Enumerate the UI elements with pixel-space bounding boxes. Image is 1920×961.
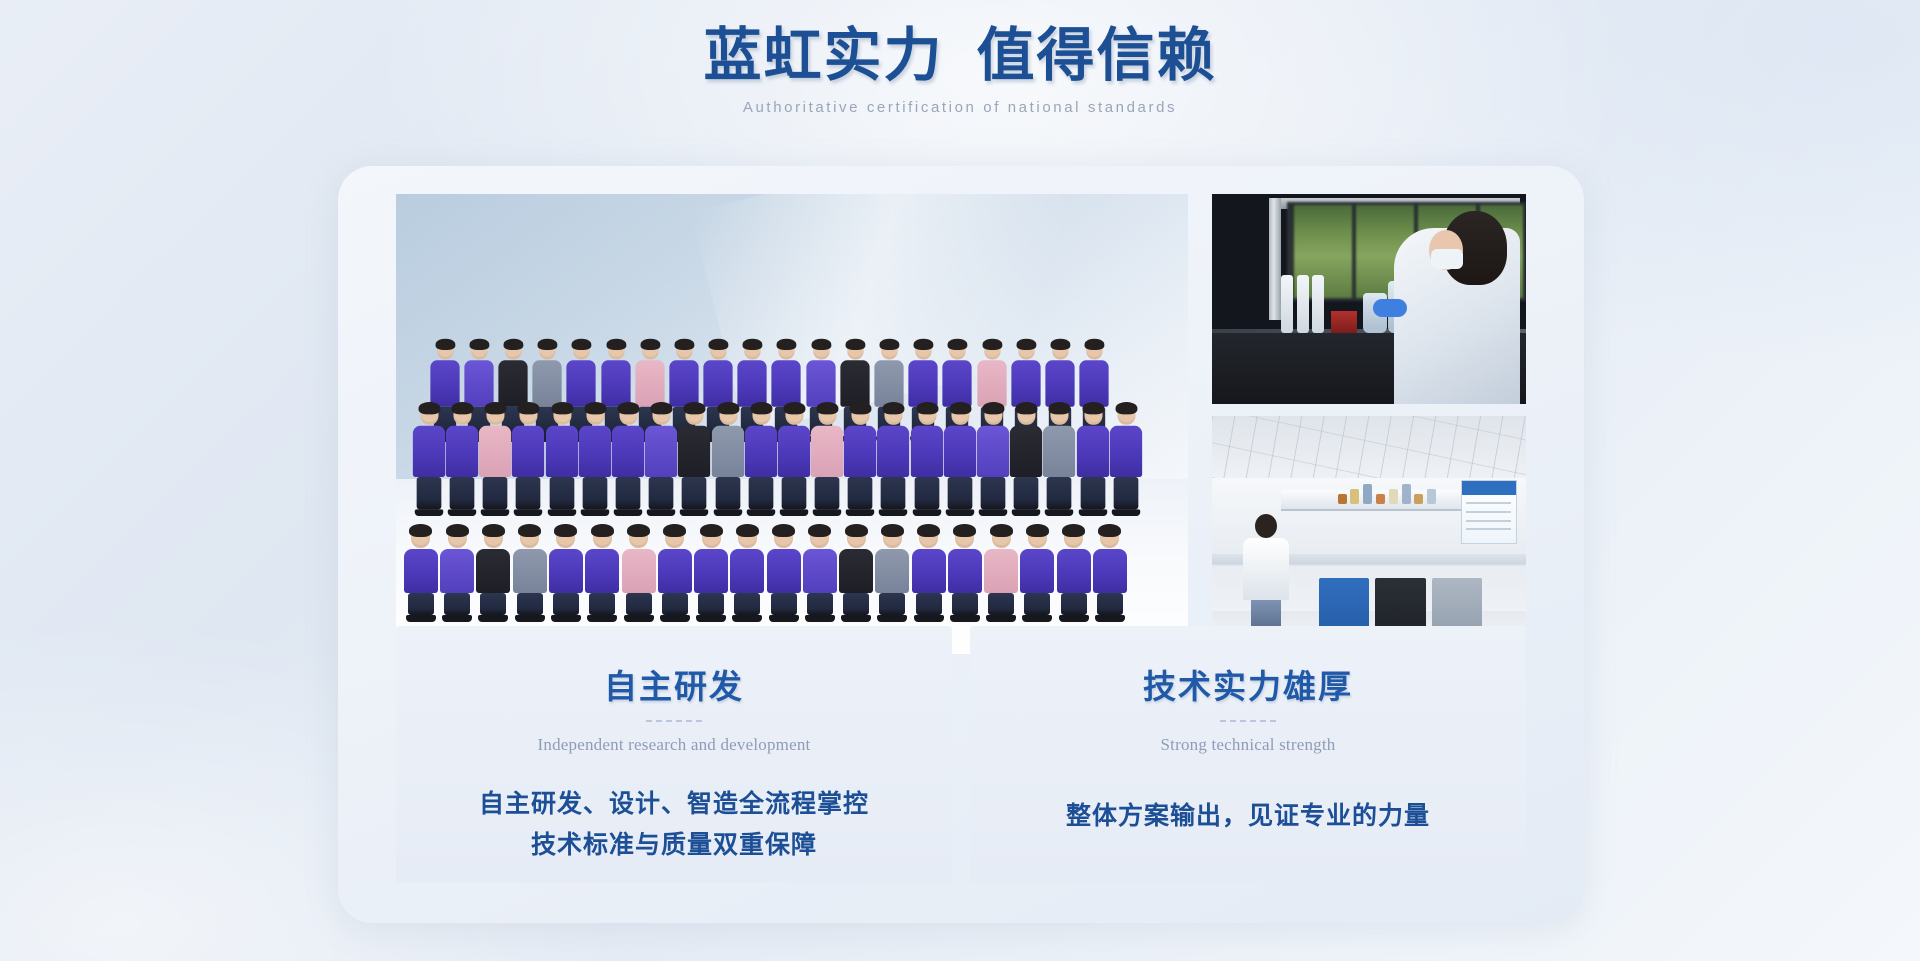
reagent-bottle — [1363, 484, 1372, 504]
reagent-bottle — [1427, 489, 1436, 504]
person-legs — [553, 593, 579, 615]
person-shoes — [478, 615, 508, 622]
person-jacket — [875, 549, 909, 593]
person-head — [411, 527, 430, 548]
person-head — [983, 342, 999, 360]
person-shoes — [1095, 615, 1125, 622]
person-hair — [1098, 524, 1121, 537]
person-jacket — [476, 549, 510, 593]
person-hair — [1115, 402, 1137, 414]
person-head — [593, 527, 612, 548]
person-shoes — [587, 615, 617, 622]
person-head — [883, 527, 902, 548]
person-jacket — [984, 549, 1018, 593]
person-hair — [879, 339, 899, 350]
person-hair — [948, 339, 968, 350]
group-photo-scene — [396, 194, 1188, 654]
person-hair — [1062, 524, 1085, 537]
person-head — [915, 342, 931, 360]
person-hair — [881, 524, 904, 537]
person-hair — [783, 402, 805, 414]
person-head — [629, 527, 648, 548]
person-hair — [982, 402, 1004, 414]
person-head — [752, 405, 770, 425]
person-head — [652, 405, 670, 425]
person-head — [519, 405, 537, 425]
person-head — [992, 527, 1011, 548]
person-figure — [622, 527, 656, 622]
person-legs — [662, 593, 688, 615]
person-jacket — [1093, 549, 1127, 593]
person-hair — [916, 402, 938, 414]
person-figure — [803, 527, 837, 622]
person-hair — [484, 402, 506, 414]
person-hair — [1082, 402, 1104, 414]
person-legs — [517, 593, 543, 615]
content-panel: 自主研发 Independent research and developmen… — [338, 166, 1584, 923]
feature-card-technical[interactable]: 技术实力雄厚 Strong technical strength 整体方案输出，… — [970, 626, 1526, 883]
test-tube — [1312, 275, 1324, 333]
person-hair — [591, 524, 614, 537]
person-jacket — [912, 549, 946, 593]
person-head — [778, 342, 794, 360]
person-hair — [674, 339, 694, 350]
person-jacket — [839, 549, 873, 593]
person-head — [586, 405, 604, 425]
person-hair — [683, 402, 705, 414]
person-hair — [816, 402, 838, 414]
person-hair — [717, 402, 739, 414]
person-hair — [663, 524, 686, 537]
person-hair — [700, 524, 723, 537]
section-header: 蓝虹实力 值得信赖 Authoritative certification of… — [0, 26, 1920, 116]
person-head — [539, 342, 555, 360]
person-shoes — [732, 615, 762, 622]
lab-photo-bottom[interactable] — [1212, 416, 1526, 654]
person-head — [505, 342, 521, 360]
person-legs — [734, 593, 760, 615]
person-shoes — [551, 615, 581, 622]
person-head — [1084, 405, 1102, 425]
person-figure — [549, 527, 583, 622]
person-shoes — [406, 615, 436, 622]
person-hair — [990, 524, 1013, 537]
person-hair — [572, 339, 592, 350]
reagent-bottle — [1414, 494, 1423, 504]
person-hair — [503, 339, 523, 350]
fume-hood-frame — [1269, 198, 1282, 320]
person-head — [1028, 527, 1047, 548]
person-legs — [916, 593, 942, 615]
person-jacket — [767, 549, 801, 593]
person-jacket — [549, 549, 583, 593]
person-head — [676, 342, 692, 360]
person-legs — [879, 593, 905, 615]
group-photo[interactable] — [396, 194, 1188, 654]
technician-head — [1255, 514, 1277, 538]
person-head — [884, 405, 902, 425]
person-head — [619, 405, 637, 425]
person-head — [710, 342, 726, 360]
person-figure — [694, 527, 728, 622]
person-head — [453, 405, 471, 425]
lab-scene-bright — [1212, 416, 1526, 654]
feature-card-body-line: 技术标准与质量双重保障 — [422, 826, 926, 867]
person-hair — [777, 339, 797, 350]
person-legs — [1061, 593, 1087, 615]
person-hair — [1048, 402, 1070, 414]
person-legs — [807, 593, 833, 615]
person-hair — [537, 339, 557, 350]
person-head — [448, 527, 467, 548]
photo-gallery — [396, 194, 1526, 654]
person-head — [810, 527, 829, 548]
dotted-divider — [646, 720, 702, 722]
person-figure — [1020, 527, 1054, 622]
person-legs — [988, 593, 1014, 615]
feature-card-body-line: 自主研发、设计、智造全流程掌控 — [422, 785, 926, 826]
person-head — [719, 405, 737, 425]
person-hair — [1084, 339, 1104, 350]
feature-card-rnd[interactable]: 自主研发 Independent research and developmen… — [396, 626, 952, 883]
test-tube — [1281, 275, 1293, 333]
person-head — [1100, 527, 1119, 548]
person-hair — [409, 524, 432, 537]
feature-card-list: 自主研发 Independent research and developmen… — [396, 626, 1526, 883]
person-shoes — [914, 615, 944, 622]
person-shoes — [841, 615, 871, 622]
person-legs — [1024, 593, 1050, 615]
person-head — [949, 342, 965, 360]
person-head — [685, 405, 703, 425]
person-hair — [808, 524, 831, 537]
poster-line — [1466, 511, 1511, 513]
person-head — [702, 527, 721, 548]
feature-card-body: 自主研发、设计、智造全流程掌控 技术标准与质量双重保障 — [422, 785, 926, 866]
person-head — [1086, 342, 1102, 360]
person-jacket — [440, 549, 474, 593]
person-jacket — [730, 549, 764, 593]
person-head — [486, 405, 504, 425]
person-figure — [1093, 527, 1127, 622]
person-head — [1117, 405, 1135, 425]
person-shoes — [1059, 615, 1089, 622]
person-hair — [845, 524, 868, 537]
lab-photo-top[interactable] — [1212, 194, 1526, 404]
person-head — [851, 405, 869, 425]
person-head — [642, 342, 658, 360]
person-hair — [772, 524, 795, 537]
person-figure — [658, 527, 692, 622]
person-jacket — [1057, 549, 1091, 593]
person-head — [520, 527, 539, 548]
person-hair — [1050, 339, 1070, 350]
person-hair — [584, 402, 606, 414]
person-jacket — [803, 549, 837, 593]
feature-card-subtitle: Strong technical strength — [996, 735, 1500, 755]
person-head — [812, 342, 828, 360]
person-head — [951, 405, 969, 425]
person-figure — [404, 527, 438, 622]
people-row-front — [396, 447, 1188, 622]
person-head — [818, 405, 836, 425]
lab-ceiling — [1212, 416, 1526, 478]
reagent-bottle — [1389, 489, 1398, 504]
person-head — [881, 342, 897, 360]
person-head — [744, 342, 760, 360]
person-hair — [883, 402, 905, 414]
person-head — [955, 527, 974, 548]
feature-card-title: 自主研发 — [422, 660, 926, 708]
person-head — [774, 527, 793, 548]
technician-coat — [1243, 538, 1289, 600]
feature-card-body-line: 整体方案输出，见证专业的力量 — [996, 797, 1500, 838]
person-head — [573, 342, 589, 360]
person-jacket — [622, 549, 656, 593]
person-head — [847, 342, 863, 360]
person-hair — [845, 339, 865, 350]
person-figure — [984, 527, 1018, 622]
person-shoes — [805, 615, 835, 622]
person-hair — [446, 524, 469, 537]
reagent-bottles — [1338, 483, 1445, 504]
reagent-box — [1331, 311, 1357, 333]
poster-line — [1466, 528, 1511, 530]
person-hair — [551, 402, 573, 414]
person-head — [847, 527, 866, 548]
person-head — [738, 527, 757, 548]
person-shoes — [624, 615, 654, 622]
person-head — [1050, 405, 1068, 425]
person-hair — [742, 339, 762, 350]
feature-card-title: 技术实力雄厚 — [996, 660, 1500, 708]
person-hair — [606, 339, 626, 350]
person-hair — [949, 402, 971, 414]
person-head — [918, 405, 936, 425]
person-hair — [451, 402, 473, 414]
person-hair — [982, 339, 1002, 350]
wall-poster — [1461, 480, 1516, 544]
person-hair — [708, 339, 728, 350]
person-legs — [952, 593, 978, 615]
person-shoes — [660, 615, 690, 622]
person-head — [471, 342, 487, 360]
person-hair — [554, 524, 577, 537]
person-legs — [843, 593, 869, 615]
face-mask — [1431, 249, 1463, 269]
person-shoes — [950, 615, 980, 622]
person-figure — [513, 527, 547, 622]
person-legs — [626, 593, 652, 615]
person-head — [1018, 342, 1034, 360]
person-hair — [482, 524, 505, 537]
person-shoes — [696, 615, 726, 622]
person-head — [484, 527, 503, 548]
person-head — [607, 342, 623, 360]
reagent-bottle — [1402, 484, 1411, 504]
person-figure — [440, 527, 474, 622]
person-figure — [730, 527, 764, 622]
person-figure — [1057, 527, 1091, 622]
person-jacket — [1020, 549, 1054, 593]
blue-glove — [1373, 299, 1407, 317]
person-legs — [444, 593, 470, 615]
person-legs — [698, 593, 724, 615]
person-hair — [1016, 339, 1036, 350]
person-hair — [617, 402, 639, 414]
person-figure — [585, 527, 619, 622]
person-head — [1064, 527, 1083, 548]
person-shoes — [986, 615, 1016, 622]
person-hair — [917, 524, 940, 537]
reagent-bottle — [1350, 489, 1359, 504]
feature-card-body: 整体方案输出，见证专业的力量 — [996, 797, 1500, 838]
person-hair — [435, 339, 455, 350]
person-head — [420, 405, 438, 425]
person-shoes — [877, 615, 907, 622]
person-hair — [627, 524, 650, 537]
person-hair — [736, 524, 759, 537]
person-legs — [589, 593, 615, 615]
person-jacket — [585, 549, 619, 593]
person-legs — [408, 593, 434, 615]
person-hair — [750, 402, 772, 414]
person-hair — [640, 339, 660, 350]
person-legs — [1097, 593, 1123, 615]
person-figure — [767, 527, 801, 622]
person-figure — [875, 527, 909, 622]
person-head — [553, 405, 571, 425]
reagent-bottle — [1376, 494, 1385, 504]
person-figure — [839, 527, 873, 622]
test-tube — [1297, 275, 1309, 333]
person-jacket — [658, 549, 692, 593]
person-hair — [849, 402, 871, 414]
person-jacket — [404, 549, 438, 593]
person-head — [556, 527, 575, 548]
person-head — [665, 527, 684, 548]
person-hair — [418, 402, 440, 414]
person-head — [437, 342, 453, 360]
person-hair — [518, 524, 541, 537]
feature-card-subtitle: Independent research and development — [422, 735, 926, 755]
person-shoes — [1022, 615, 1052, 622]
poster-line — [1466, 502, 1511, 504]
dotted-divider — [1220, 720, 1276, 722]
person-hair — [650, 402, 672, 414]
person-figure — [476, 527, 510, 622]
person-figure — [912, 527, 946, 622]
reagent-bottle — [1338, 494, 1347, 504]
person-hair — [1026, 524, 1049, 537]
person-jacket — [948, 549, 982, 593]
person-shoes — [515, 615, 545, 622]
person-shoes — [442, 615, 472, 622]
poster-line — [1466, 520, 1511, 522]
page-subtitle: Authoritative certification of national … — [0, 99, 1920, 116]
lab-technician — [1243, 514, 1289, 630]
person-head — [785, 405, 803, 425]
person-hair — [953, 524, 976, 537]
person-head — [984, 405, 1002, 425]
page-title: 蓝虹实力 值得信赖 — [0, 26, 1920, 85]
person-hair — [811, 339, 831, 350]
person-hair — [469, 339, 489, 350]
person-figure — [948, 527, 982, 622]
person-legs — [771, 593, 797, 615]
person-jacket — [513, 549, 547, 593]
poster-header — [1462, 481, 1515, 495]
person-jacket — [694, 549, 728, 593]
person-hair — [913, 339, 933, 350]
person-hair — [517, 402, 539, 414]
lab-scene-dark — [1212, 194, 1526, 404]
person-head — [1052, 342, 1068, 360]
person-legs — [480, 593, 506, 615]
person-head — [919, 527, 938, 548]
person-head — [1017, 405, 1035, 425]
person-shoes — [769, 615, 799, 622]
person-hair — [1015, 402, 1037, 414]
